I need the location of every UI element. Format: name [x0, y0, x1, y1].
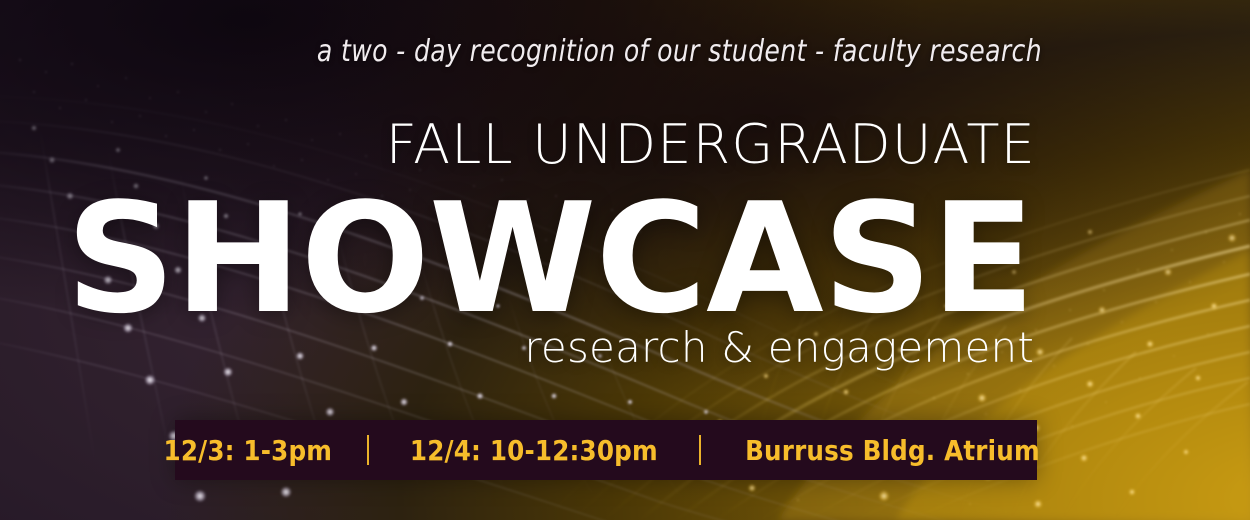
banner-kicker: FALL UNDERGRADUATE — [0, 118, 1036, 172]
banner-tagline: a two - day recognition of our student -… — [73, 34, 1042, 69]
banner-content: a two - day recognition of our student -… — [0, 0, 1250, 520]
event-details-bar: 12/3: 1-3pm 12/4: 10-12:30pm Burruss Bld… — [175, 420, 1037, 480]
event-banner: a two - day recognition of our student -… — [0, 0, 1250, 520]
banner-headline: SHOWCASE — [0, 183, 1034, 335]
event-detail-location: Burruss Bldg. Atrium — [744, 434, 1042, 467]
detail-separator-icon — [699, 435, 701, 465]
banner-subline: research & engagement — [0, 327, 1034, 369]
event-detail-date-one: 12/3: 1-3pm — [162, 434, 334, 467]
event-detail-date-two: 12/4: 10-12:30pm — [409, 434, 660, 467]
detail-separator-icon — [367, 435, 369, 465]
